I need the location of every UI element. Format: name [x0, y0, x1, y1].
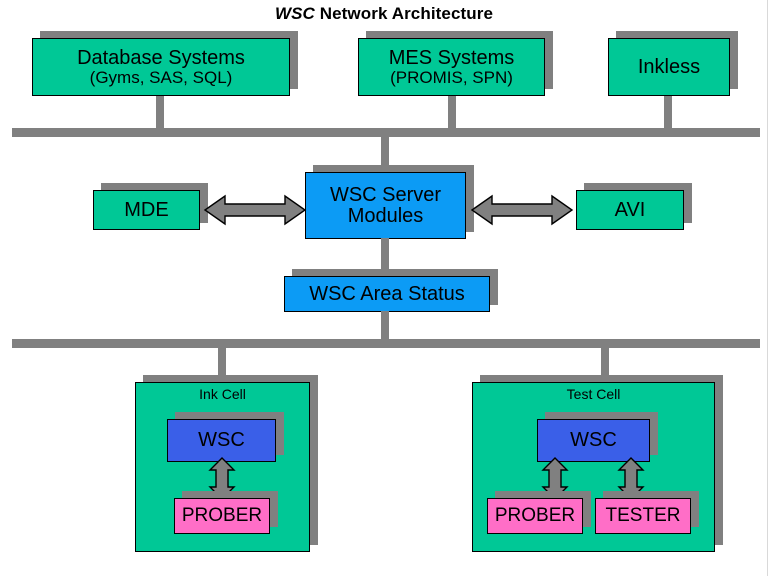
- page-title-emphasis: WSC: [275, 4, 315, 23]
- node-test-cell-tester[interactable]: TESTER: [595, 498, 691, 534]
- node-wsc-server-modules-line1: WSC Server: [330, 185, 441, 206]
- node-test-cell-wsc-label: WSC: [570, 430, 617, 451]
- test-cell-title: Test Cell: [472, 386, 715, 402]
- network-bus-lower: [12, 339, 760, 348]
- node-test-cell-prober-label: PROBER: [495, 506, 575, 526]
- ink-cell-title: Ink Cell: [135, 386, 310, 402]
- node-inkless[interactable]: Inkless: [608, 38, 730, 96]
- node-wsc-area-status-line1: WSC Area Status: [309, 284, 465, 305]
- arrow-server-avi: [470, 190, 574, 230]
- node-database-systems[interactable]: Database Systems (Gyms, SAS, SQL): [32, 38, 290, 96]
- node-test-cell-prober[interactable]: PROBER: [487, 498, 583, 534]
- node-wsc-server-modules[interactable]: WSC Server Modules: [305, 172, 466, 239]
- page-title-rest: Network Architecture: [315, 4, 493, 23]
- node-test-cell-wsc[interactable]: WSC: [537, 419, 650, 462]
- page-title: WSC Network Architecture: [0, 4, 768, 24]
- node-avi[interactable]: AVI: [576, 190, 684, 230]
- node-wsc-server-modules-line2: Modules: [348, 206, 424, 227]
- node-mes-systems[interactable]: MES Systems (PROMIS, SPN): [358, 38, 545, 96]
- node-database-systems-line1: Database Systems: [77, 48, 245, 69]
- node-mde-line1: MDE: [124, 200, 168, 221]
- node-ink-cell-wsc-label: WSC: [198, 430, 245, 451]
- node-mes-systems-line1: MES Systems: [389, 48, 515, 69]
- drop-database-to-bus1: [156, 96, 164, 131]
- node-mde[interactable]: MDE: [93, 190, 200, 230]
- node-wsc-area-status[interactable]: WSC Area Status: [284, 276, 490, 312]
- node-database-systems-line2: (Gyms, SAS, SQL): [90, 69, 233, 87]
- node-ink-cell-prober-label: PROBER: [182, 506, 262, 526]
- node-ink-cell-wsc[interactable]: WSC: [167, 419, 276, 462]
- node-inkless-line1: Inkless: [638, 57, 700, 78]
- node-ink-cell-prober[interactable]: PROBER: [174, 498, 270, 534]
- arrow-mde-server: [203, 190, 307, 230]
- drop-mes-to-bus1: [448, 96, 456, 131]
- drop-inkless-to-bus1: [664, 96, 672, 131]
- node-avi-line1: AVI: [615, 200, 646, 221]
- diagram-canvas: WSC Network Architecture Database System…: [0, 0, 768, 576]
- node-mes-systems-line2: (PROMIS, SPN): [390, 69, 513, 87]
- drop-area-status-to-bus2: [381, 311, 389, 341]
- node-test-cell-tester-label: TESTER: [606, 506, 681, 526]
